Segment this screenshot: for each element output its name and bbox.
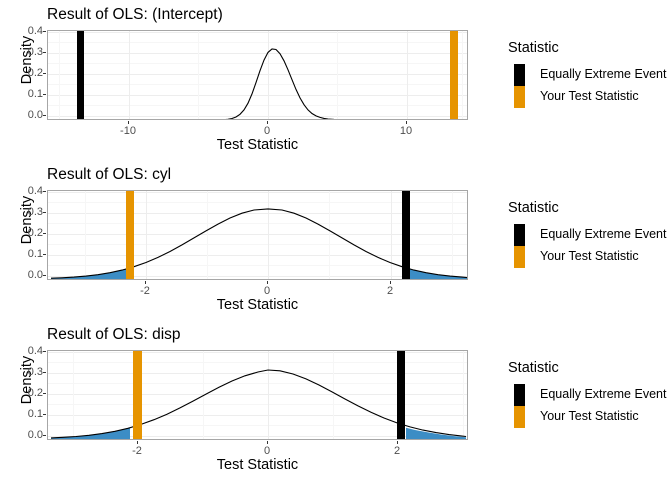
x-tick-mark [145,281,146,284]
legend-item-label: Equally Extreme Event [540,387,666,402]
x-axis-label-cyl: Test Statistic [47,297,468,313]
plot-panel-intercept [47,30,468,120]
x-tick-row-disp: -2 0 2 [47,441,468,457]
y-tick-mark [43,191,46,192]
y-tick-label: 0.4 [17,346,43,357]
panel-title-disp: Result of OLS: disp [47,326,181,344]
x-tick-mark [397,441,398,444]
y-tick-mark [43,115,46,116]
x-tick-label: 10 [400,125,412,137]
y-tick-label: 0.4 [17,26,43,37]
legend-item-label: Your Test Statistic [540,89,639,104]
x-tick-label: 0 [264,445,270,457]
y-tick-mark [43,94,46,95]
y-tick-labels-cyl: 0.4 0.3 0.2 0.1 0.0 [13,190,43,286]
y-tick-mark [43,275,46,276]
y-tick-mark [43,393,46,394]
y-tick-labels-disp: 0.4 0.3 0.2 0.1 0.0 [13,350,43,446]
x-tick-mark [267,121,268,124]
y-tick-mark [43,435,46,436]
legend-swatch-orange-icon [514,246,525,268]
y-tick-label: 0.1 [17,249,43,260]
your-test-statistic-marker [126,191,134,279]
right-tail-shading [406,428,466,440]
equally-extreme-event-marker [402,191,410,279]
y-tick-mark [43,31,46,32]
y-tick-mark [43,233,46,234]
your-test-statistic-marker [450,31,458,119]
legend-item-label: Equally Extreme Event [540,227,666,242]
y-tick-mark [43,212,46,213]
x-tick-mark [406,121,407,124]
x-tick-label: 2 [387,285,393,297]
y-tick-label: 0.4 [17,186,43,197]
y-tick-mark [43,414,46,415]
y-tick-label: 0.3 [17,367,43,378]
x-tick-label: 0 [264,125,270,137]
y-tick-mark [43,351,46,352]
y-tick-label: 0.1 [17,89,43,100]
y-tick-label: 0.2 [17,388,43,399]
x-tick-label: 0 [264,285,270,297]
equally-extreme-event-marker [77,31,84,119]
legend-swatch-orange-icon [514,86,525,108]
chart-page: Result of OLS: (Intercept) Density 0.4 0… [0,0,672,480]
y-tick-mark [43,73,46,74]
x-tick-label: -10 [120,125,136,137]
x-tick-row-cyl: -2 0 2 [47,281,468,297]
left-tail-shading [51,428,130,440]
legend-swatch-black-icon [514,64,525,86]
legend-swatch-black-icon [514,384,525,406]
equally-extreme-event-marker [397,351,405,439]
y-tick-label: 0.0 [17,110,43,121]
x-tick-mark [128,121,129,124]
x-tick-mark [137,441,138,444]
x-axis-label-disp: Test Statistic [47,457,468,473]
legend-swatch-black-icon [514,224,525,246]
x-tick-label: 2 [394,445,400,457]
legend-item-label: Your Test Statistic [540,409,639,424]
density-curve-disp [48,351,468,440]
x-tick-mark [267,281,268,284]
y-tick-label: 0.0 [17,430,43,441]
legend-swatch-orange-icon [514,406,525,428]
y-tick-label: 0.2 [17,228,43,239]
panel-title-cyl: Result of OLS: cyl [47,166,171,184]
legend-title: Statistic [508,40,559,56]
x-tick-label: -2 [140,285,150,297]
y-tick-mark [43,254,46,255]
y-tick-mark [43,372,46,373]
y-tick-label: 0.2 [17,68,43,79]
legend-item-label: Your Test Statistic [540,249,639,264]
panel-title-intercept: Result of OLS: (Intercept) [47,6,223,24]
your-test-statistic-marker [133,351,142,439]
plot-panel-disp [47,350,468,440]
x-axis-label-intercept: Test Statistic [47,137,468,153]
y-tick-mark [43,52,46,53]
y-tick-label: 0.3 [17,47,43,58]
plot-panel-cyl [47,190,468,280]
x-tick-mark [267,441,268,444]
legend-title: Statistic [508,360,559,376]
legend-title: Statistic [508,200,559,216]
x-tick-label: -2 [132,445,142,457]
y-tick-label: 0.1 [17,409,43,420]
x-tick-mark [390,281,391,284]
y-tick-label: 0.0 [17,270,43,281]
y-tick-labels-intercept: 0.4 0.3 0.2 0.1 0.0 [13,30,43,126]
legend-item-label: Equally Extreme Event [540,67,666,82]
right-tail-shading [406,268,467,280]
x-tick-row-intercept: -10 0 10 [47,121,468,137]
y-tick-label: 0.3 [17,207,43,218]
density-curve-intercept [48,31,468,120]
